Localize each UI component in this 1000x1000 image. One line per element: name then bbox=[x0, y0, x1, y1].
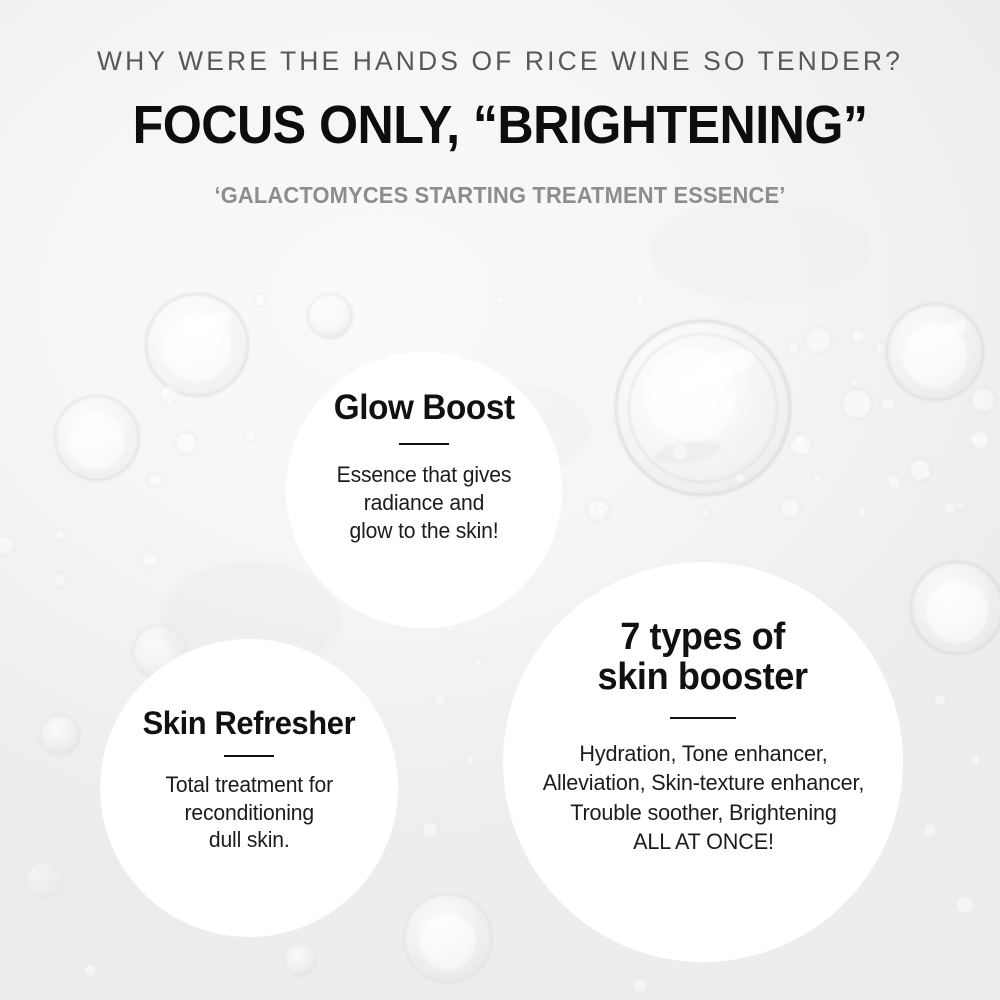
feature-description: Total treatment for reconditioning dull … bbox=[165, 771, 332, 854]
feature-title-line: 7 types of bbox=[598, 618, 808, 658]
feature-description-line: Trouble soother, Brightening bbox=[542, 798, 864, 827]
kicker-text: WHY WERE THE HANDS OF RICE WINE SO TENDE… bbox=[0, 46, 1000, 77]
divider-rule bbox=[399, 443, 449, 445]
feature-description-line: Alleviation, Skin-texture enhancer, bbox=[542, 768, 864, 797]
divider-rule bbox=[224, 755, 274, 757]
feature-circle-glow-boost: Glow Boost Essence that gives radiance a… bbox=[286, 352, 562, 628]
feature-description-line: reconditioning bbox=[165, 799, 332, 827]
feature-description-line: Essence that gives bbox=[337, 461, 512, 489]
feature-description-line: Hydration, Tone enhancer, bbox=[542, 739, 864, 768]
feature-description-line: dull skin. bbox=[165, 826, 332, 854]
feature-description-line: radiance and bbox=[337, 489, 512, 517]
feature-description-line: ALL AT ONCE! bbox=[542, 827, 864, 856]
feature-description: Essence that gives radiance and glow to … bbox=[337, 461, 512, 544]
divider-rule bbox=[670, 717, 736, 719]
feature-circle-skin-booster: 7 types of skin booster Hydration, Tone … bbox=[503, 562, 903, 962]
bubble-large-right bbox=[616, 321, 790, 495]
poster-canvas: WHY WERE THE HANDS OF RICE WINE SO TENDE… bbox=[0, 0, 1000, 1000]
feature-title: 7 types of skin booster bbox=[598, 618, 808, 697]
feature-title-line: skin booster bbox=[598, 658, 808, 698]
feature-circle-skin-refresher: Skin Refresher Total treatment for recon… bbox=[100, 639, 398, 937]
page-title: FOCUS ONLY, “BRIGHTENING” bbox=[35, 94, 965, 156]
feature-title: Glow Boost bbox=[334, 390, 515, 426]
feature-description-line: Total treatment for bbox=[165, 771, 332, 799]
feature-description-line: glow to the skin! bbox=[337, 517, 512, 545]
header-block: WHY WERE THE HANDS OF RICE WINE SO TENDE… bbox=[0, 0, 1000, 209]
feature-title: Skin Refresher bbox=[143, 707, 356, 741]
product-subtitle: ‘GALACTOMYCES STARTING TREATMENT ESSENCE… bbox=[25, 182, 975, 209]
feature-description: Hydration, Tone enhancer, Alleviation, S… bbox=[542, 739, 864, 856]
